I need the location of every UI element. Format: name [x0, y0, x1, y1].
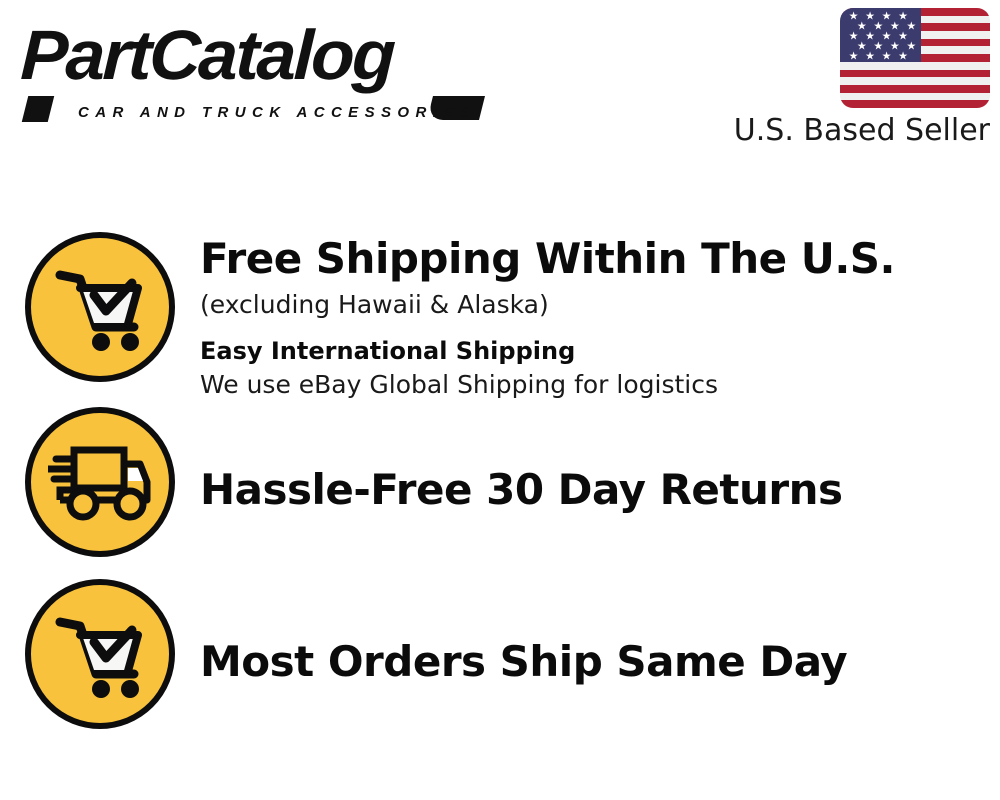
- feature-subnote: (excluding Hawaii & Alaska): [200, 288, 1000, 322]
- delivery-truck-icon: [25, 407, 175, 557]
- feature-icon-cell: [0, 579, 200, 729]
- feature-text-cell: Most Orders Ship Same Day: [200, 579, 1000, 687]
- brand-tagline: CAR AND TRUCK ACCESSORIES: [78, 104, 476, 121]
- promo-banner: PartCatalog CAR AND TRUCK ACCESSORIES ★ …: [0, 0, 1000, 800]
- feature-row: Hassle-Free 30 Day Returns: [0, 407, 1000, 579]
- feature-text-cell: Hassle-Free 30 Day Returns: [200, 407, 1000, 515]
- feature-heading: Hassle-Free 30 Day Returns: [200, 465, 1000, 515]
- feature-text-cell: Free Shipping Within The U.S. (excluding…: [200, 232, 1000, 402]
- shopping-cart-check-icon: [25, 579, 175, 729]
- us-based-seller-label: U.S. Based Seller: [700, 114, 990, 148]
- feature-row: Most Orders Ship Same Day: [0, 579, 1000, 751]
- feature-list: Free Shipping Within The U.S. (excluding…: [0, 232, 1000, 751]
- feature-icon-cell: [0, 232, 200, 382]
- brand-logo: PartCatalog CAR AND TRUCK ACCESSORIES: [22, 18, 492, 118]
- us-flag-icon: ★ ★ ★ ★ ★ ★ ★ ★ ★ ★ ★ ★ ★ ★ ★ ★ ★ ★ ★ ★: [840, 8, 990, 108]
- feature-heading: Most Orders Ship Same Day: [200, 637, 1000, 687]
- brand-wordmark: PartCatalog: [19, 18, 394, 92]
- feature-sub-detail: We use eBay Global Shipping for logistic…: [200, 368, 1000, 402]
- shopping-cart-check-icon: [25, 232, 175, 382]
- us-based-seller-badge: ★ ★ ★ ★ ★ ★ ★ ★ ★ ★ ★ ★ ★ ★ ★ ★ ★ ★ ★ ★ …: [700, 8, 990, 148]
- feature-row: Free Shipping Within The U.S. (excluding…: [0, 232, 1000, 407]
- logo-flourish-left: [22, 96, 54, 122]
- feature-icon-cell: [0, 407, 200, 557]
- feature-sub-bold: Easy International Shipping: [200, 334, 1000, 368]
- feature-heading: Free Shipping Within The U.S.: [200, 234, 1000, 284]
